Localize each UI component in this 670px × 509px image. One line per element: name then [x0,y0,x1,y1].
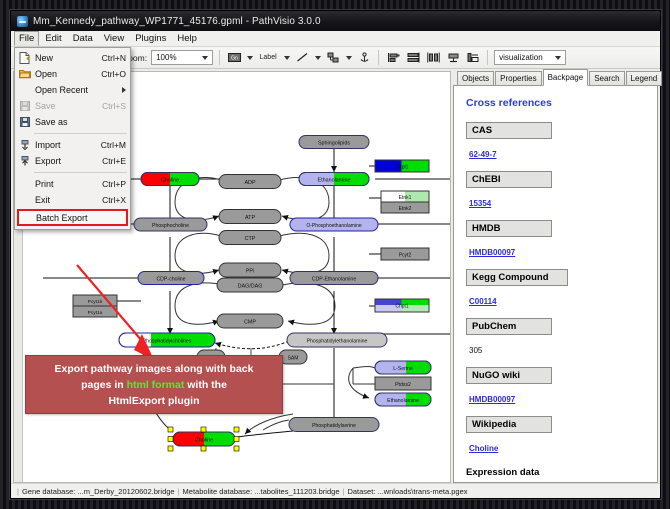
pathway-node-ethanolamine-bottom: Ethanolamine [375,393,431,406]
tab-legend[interactable]: Legend [626,71,663,86]
menu-view[interactable]: View [99,31,129,46]
annotation-arrow [74,262,164,367]
annotation-line2-b: with the [184,379,227,391]
tab-properties[interactable]: Properties [495,71,541,86]
file-menu-popup[interactable]: New Ctrl+N Open Ctrl+O Open Recent Save [14,47,131,230]
file-menu-label-open-recent: Open Recent [35,85,116,95]
annotation-line-2: pages in html format with the [26,377,282,393]
file-menu-item-save-as[interactable]: Save as [15,114,130,130]
svg-text:SAM: SAM [288,355,299,361]
status-gene-db-label: Gene database: [22,487,75,496]
xref-value-nugo[interactable]: HMDB00097 [469,395,515,404]
pathway-node-cmp: CMP [217,314,283,328]
status-dataset-value: ...wnloads\trans-meta.pgex [377,487,467,496]
xref-header-hmdb: HMDB [466,220,552,237]
status-dataset-label: Dataset: [347,487,375,496]
menu-bar: File Edit Data View Plugins Help [11,31,660,47]
pathway-node-sgpl1: Sgpl1 [375,160,429,172]
file-menu-item-open-recent[interactable]: Open Recent [15,82,130,98]
pathway-node-etnk2: Etnk2 [381,202,429,213]
file-menu-shortcut-import: Ctrl+M [101,140,126,150]
expression-data-label: Expression data [466,467,647,478]
xref-header-cas: CAS [466,122,552,139]
pathway-node-choline-top: Choline [141,173,199,186]
toolbar-divider-2 [378,50,379,65]
annotation-callout: Export pathway images along with back pa… [25,355,283,414]
svg-text:Pcyt2: Pcyt2 [399,253,412,259]
chevron-down-icon [202,56,208,60]
pathway-node-ethanolamine-top: Ethanolamine [299,173,369,186]
xref-header-kegg: Kegg Compound [466,269,568,286]
svg-text:Etnk2: Etnk2 [399,206,412,212]
file-menu-item-import[interactable]: Import Ctrl+M [15,137,130,153]
annotation-line-1: Export pathway images along with back [26,361,282,377]
distribute-icon[interactable] [425,50,441,66]
align-stack-icon[interactable] [405,50,421,66]
svg-text:O-Phosphoethanolamine: O-Phosphoethanolamine [306,223,362,229]
line-icon[interactable] [294,50,310,66]
label-icon[interactable]: Label [257,50,279,66]
svg-text:L-Serine: L-Serine [393,366,413,372]
chevron-down-icon-2 [555,56,561,60]
tab-search[interactable]: Search [589,71,624,86]
pathway-node-atp: ATP [219,210,281,224]
new-document-icon [17,52,32,65]
pathway-node-phosphatidylethanolamine: Phosphatidylethanolamine [287,333,387,347]
open-folder-icon [17,68,32,81]
file-menu-item-batch-export[interactable]: Batch Export [17,209,128,226]
backpage-panel: Cross references CAS 62-49-7 ChEBI 15354… [453,86,658,483]
sidebar-tabs: Objects Properties Backpage Search Legen… [453,71,658,86]
svg-text:Ethanolamine: Ethanolamine [387,398,419,404]
svg-text:CDP-Ethanolamine: CDP-Ethanolamine [312,276,357,282]
save-disk-icon [17,100,32,113]
status-divider-1: | [178,487,180,496]
pathway-node-ptdss2: Ptdss2 [375,377,431,390]
menu-edit[interactable]: Edit [40,31,66,46]
file-menu-label-open: Open [35,69,93,79]
svg-text:Phosphocholine: Phosphocholine [152,223,189,229]
align-left-icon[interactable] [385,50,401,66]
pathway-node-ctp: CTP [219,231,281,245]
pathway-node-etnk1: Etnk1 [381,191,429,202]
zoom-combobox[interactable]: 100% [151,50,213,65]
window-title: Mm_Kennedy_pathway_WP1771_45176.gpml - P… [33,16,321,27]
svg-text:PPi: PPi [246,269,254,275]
status-divider-2: | [342,487,344,496]
xref-value-wikipedia[interactable]: Choline [469,444,498,453]
pathway-node-sam: SAM [279,350,307,364]
export-icon [17,155,32,168]
tab-objects[interactable]: Objects [457,71,494,86]
screenshot-root: Mm_Kennedy_pathway_WP1771_45176.gpml - P… [0,0,670,509]
visualization-value: visualization [499,53,550,62]
blank-icon [17,84,32,97]
label-dropdown-icon[interactable] [284,56,290,60]
file-menu-label-batch-export: Batch Export [36,213,122,223]
status-gene-db-value: ...m_Derby_20120602.bridge [77,487,174,496]
svg-text:Phosphatidylethanolamine: Phosphatidylethanolamine [307,338,368,344]
file-menu-item-print[interactable]: Print Ctrl+P [15,176,130,192]
svg-text:Sgpl1: Sgpl1 [396,165,409,171]
file-menu-shortcut-new: Ctrl+N [102,53,126,63]
shape-icon[interactable] [325,50,341,66]
xref-value-kegg[interactable]: C00114 [469,297,497,306]
label-text: Label [259,54,278,61]
file-menu-label-export: Export [35,156,94,166]
file-menu-shortcut-export: Ctrl+E [102,156,126,166]
annotation-highlight: html format [127,379,185,391]
status-divider-0: | [17,487,19,496]
xref-header-nugo: NuGO wiki [466,367,552,384]
file-menu-item-open[interactable]: Open Ctrl+O [15,66,130,82]
file-menu-shortcut-print: Ctrl+P [102,179,126,189]
svg-text:Chpt1: Chpt1 [395,304,409,310]
file-menu-shortcut-exit: Ctrl+X [102,195,126,205]
pathway-node-adp: ADP [219,175,281,189]
status-bar: | Gene database: ...m_Derby_20120602.bri… [11,483,660,498]
file-menu-shortcut-open: Ctrl+O [101,69,126,79]
line-dropdown-icon[interactable] [315,56,321,60]
pathway-node-l-serine: L-Serine [375,361,431,374]
file-menu-label-save: Save [35,101,94,111]
order-icon[interactable] [465,50,481,66]
xref-header-chebi: ChEBI [466,171,552,188]
pathvisio-icon [17,16,28,27]
backpage-title: Cross references [466,97,647,109]
blank-icon-3 [17,194,32,207]
toolbar-divider-3 [487,50,488,65]
xref-header-wikipedia: Wikipedia [466,416,552,433]
blank-icon-2 [17,178,32,191]
visualization-combobox[interactable]: visualization [494,50,566,65]
menu-plugins[interactable]: Plugins [130,31,171,46]
pathway-node-chpt1: Chpt1 [375,299,429,312]
side-panel: Objects Properties Backpage Search Legen… [452,69,660,483]
file-menu-label-print: Print [35,179,94,189]
file-menu-item-new[interactable]: New Ctrl+N [15,50,130,66]
menu-file[interactable]: File [14,31,39,46]
menu-data[interactable]: Data [68,31,98,46]
status-metabolite-db-label: Metabolite database: [183,487,253,496]
file-menu-item-exit[interactable]: Exit Ctrl+X [15,192,130,208]
xref-header-pubchem: PubChem [466,318,552,335]
xref-value-hmdb[interactable]: HMDB00097 [469,248,515,257]
datanode-dropdown-icon[interactable] [247,56,253,60]
toolbar-divider [219,50,220,65]
pathway-node-ppi: PPi [219,263,281,277]
svg-text:Phosphatidylserine: Phosphatidylserine [312,423,356,429]
annotation-line-3: HtmlExport plugin [26,393,282,409]
svg-text:Choline: Choline [195,437,213,443]
file-menu-divider-1 [34,133,127,134]
submenu-arrow-icon [122,87,126,93]
svg-text:Choline: Choline [161,178,179,184]
save-as-icon [17,116,32,129]
svg-text:Ethanolamine: Ethanolamine [318,178,351,184]
svg-text:DAG/DAG: DAG/DAG [238,284,263,290]
group-icon[interactable] [445,50,461,66]
xref-value-pubchem: 305 [469,346,482,355]
pathway-node-cdp-ethanolamine: CDP-Ethanolamine [290,272,378,285]
zoom-value: 100% [156,53,197,62]
anchor-icon[interactable] [356,50,372,66]
file-menu-label-exit: Exit [35,195,94,205]
xref-value-chebi[interactable]: 15354 [469,199,491,208]
menu-help[interactable]: Help [172,31,202,46]
file-menu-label-new: New [35,53,94,63]
svg-text:Sphingolipids: Sphingolipids [318,141,350,147]
status-metabolite-db-value: ...tabolites_111203.bridge [254,487,339,496]
xref-value-cas[interactable]: 62-49-7 [469,150,497,159]
svg-text:CMP: CMP [244,320,256,326]
svg-text:Etnk1: Etnk1 [399,195,412,201]
svg-text:Ptdss2: Ptdss2 [395,382,411,388]
title-bar: Mm_Kennedy_pathway_WP1771_45176.gpml - P… [11,11,660,31]
pathway-node-phosphatidylserine: Phosphatidylserine [289,418,379,432]
file-menu-shortcut-save: Ctrl+S [102,101,126,111]
import-icon [17,139,32,152]
shape-dropdown-icon[interactable] [346,56,352,60]
svg-text:CTP: CTP [245,236,256,242]
annotation-line2-a: pages in [81,379,127,391]
pathway-node-phosphocholine: Phosphocholine [134,218,207,231]
svg-text:Gn: Gn [231,56,238,62]
file-menu-item-save: Save Ctrl+S [15,98,130,114]
pathway-node-pcyt2: Pcyt2 [381,248,429,260]
pathway-node-choline-bottom: Choline [168,427,239,451]
file-menu-label-import: Import [35,140,93,150]
pathway-node-o-phosphoethanolamine: O-Phosphoethanolamine [290,218,378,231]
file-menu-item-export[interactable]: Export Ctrl+E [15,153,130,169]
datanode-icon[interactable]: Gn [226,50,242,66]
svg-text:ATP: ATP [245,215,255,221]
file-menu-divider-2 [34,172,127,173]
file-menu-label-save-as: Save as [35,117,118,127]
application-window: Mm_Kennedy_pathway_WP1771_45176.gpml - P… [10,10,661,499]
svg-text:ADP: ADP [244,180,255,186]
tab-backpage[interactable]: Backpage [543,69,589,86]
pathway-node-sphingolipids: Sphingolipids [299,136,369,149]
pathway-node-dag-dag: DAG/DAG [217,278,283,292]
